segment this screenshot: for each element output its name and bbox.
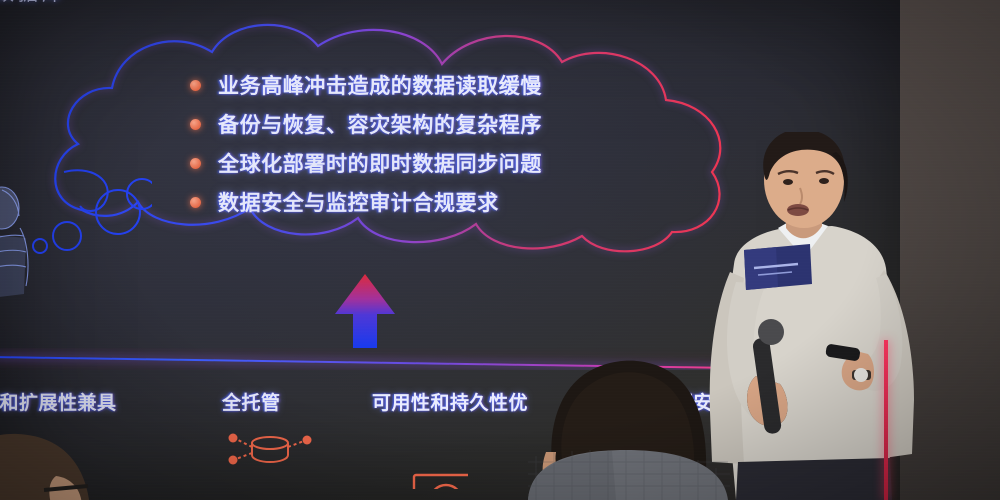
list-item: 全球化部署时的即时数据同步问题 [190,146,610,180]
wireframe-person-graphic [0,182,40,302]
wall-accent-strip [884,340,888,500]
screenshot-root: 数据库 业务高峰冲击造成的数据读 [0,0,1000,500]
feature-item: 全托管 [222,388,318,488]
bullet-dot-icon [190,80,201,91]
bullet-dot-icon [190,158,201,169]
feature-item: 可用性和持久性优 [372,388,528,494]
feature-label: 可用性和持久性优 [372,388,528,415]
thought-bubbles-graphic [12,168,152,263]
bullet-text: 备份与恢复、容灾架构的复杂程序 [218,109,542,139]
cloud-bullet-list: 业务高峰冲击造成的数据读取缓慢 备份与恢复、容灾架构的复杂程序 全球化部署时的即… [190,68,610,224]
list-item: 业务高峰冲击造成的数据读取缓慢 [190,68,610,102]
slide-title-cropped: 数据库 [0,0,324,8]
mic-flag [744,244,812,290]
list-item: 备份与恢复、容灾架构的复杂程序 [190,107,610,141]
bullet-text: 全球化部署时的即时数据同步问题 [218,148,542,178]
bullet-dot-icon [190,119,201,130]
managed-nodes-icon [222,429,318,488]
shield-box-icon [372,429,528,494]
bullet-dot-icon [190,197,201,208]
bullet-text: 业务高峰冲击造成的数据读取缓慢 [218,70,542,100]
feature-label: 形和扩展性兼具 [0,388,117,415]
bullet-text: 数据安全与监控审计合规要求 [218,187,499,217]
audience-member-center [520,300,750,500]
cloud-shape [42,12,742,258]
audience-member-left [0,428,138,500]
list-item: 数据安全与监控审计合规要求 [190,185,610,219]
upward-arrow-icon [332,272,398,350]
feature-label: 全托管 [222,388,318,415]
